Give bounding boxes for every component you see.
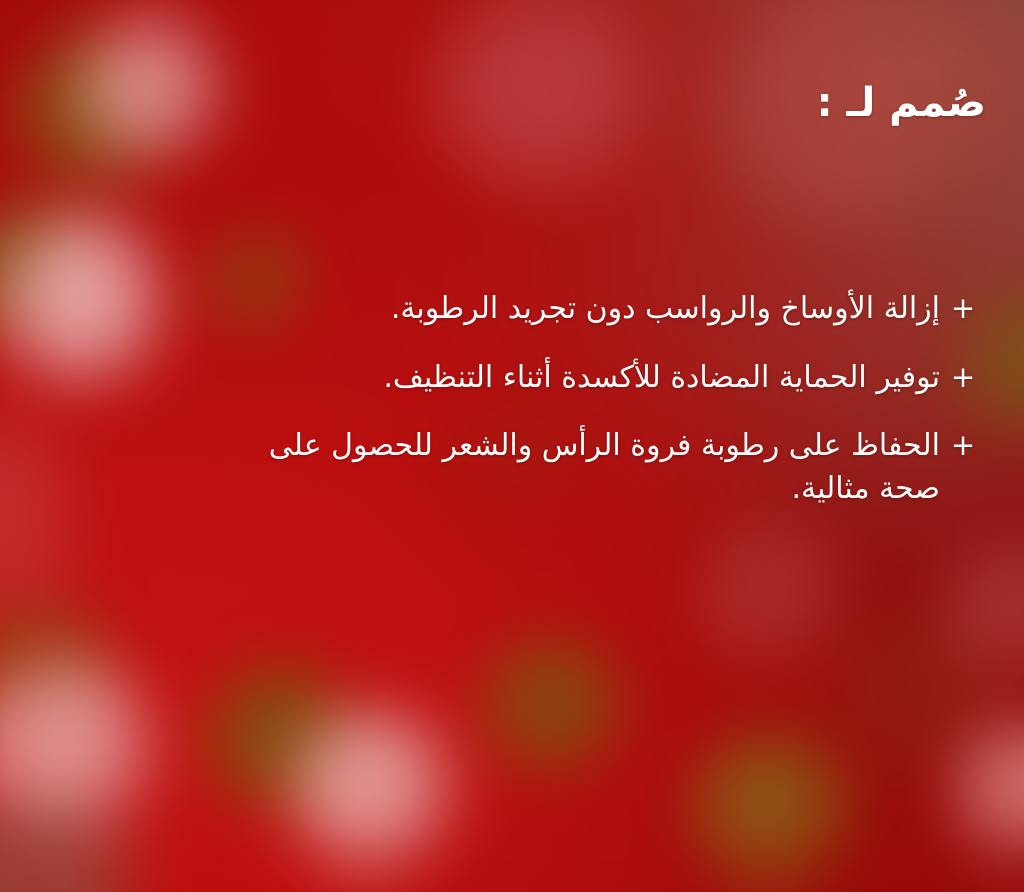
benefit-list: + إزالة الأوساخ والرواسب دون تجريد الرطو… <box>230 288 986 510</box>
list-item: + الحفاظ على رطوبة فروة الرأس والشعر للح… <box>230 425 986 510</box>
list-item-label: الحفاظ على رطوبة فروة الرأس والشعر للحصو… <box>230 425 940 510</box>
promo-banner: صُمم لـ : + إزالة الأوساخ والرواسب دون ت… <box>0 0 1024 892</box>
list-item: + إزالة الأوساخ والرواسب دون تجريد الرطو… <box>230 288 986 331</box>
list-item-label: إزالة الأوساخ والرواسب دون تجريد الرطوبة… <box>230 288 940 331</box>
content-layer: صُمم لـ : + إزالة الأوساخ والرواسب دون ت… <box>0 0 1024 892</box>
plus-icon: + <box>940 288 986 329</box>
plus-icon: + <box>940 425 986 466</box>
list-item: + توفير الحماية المضادة للأكسدة أثناء ال… <box>230 357 986 400</box>
page-title: صُمم لـ : <box>817 78 986 128</box>
list-item-label: توفير الحماية المضادة للأكسدة أثناء التن… <box>230 357 940 400</box>
plus-icon: + <box>940 357 986 398</box>
